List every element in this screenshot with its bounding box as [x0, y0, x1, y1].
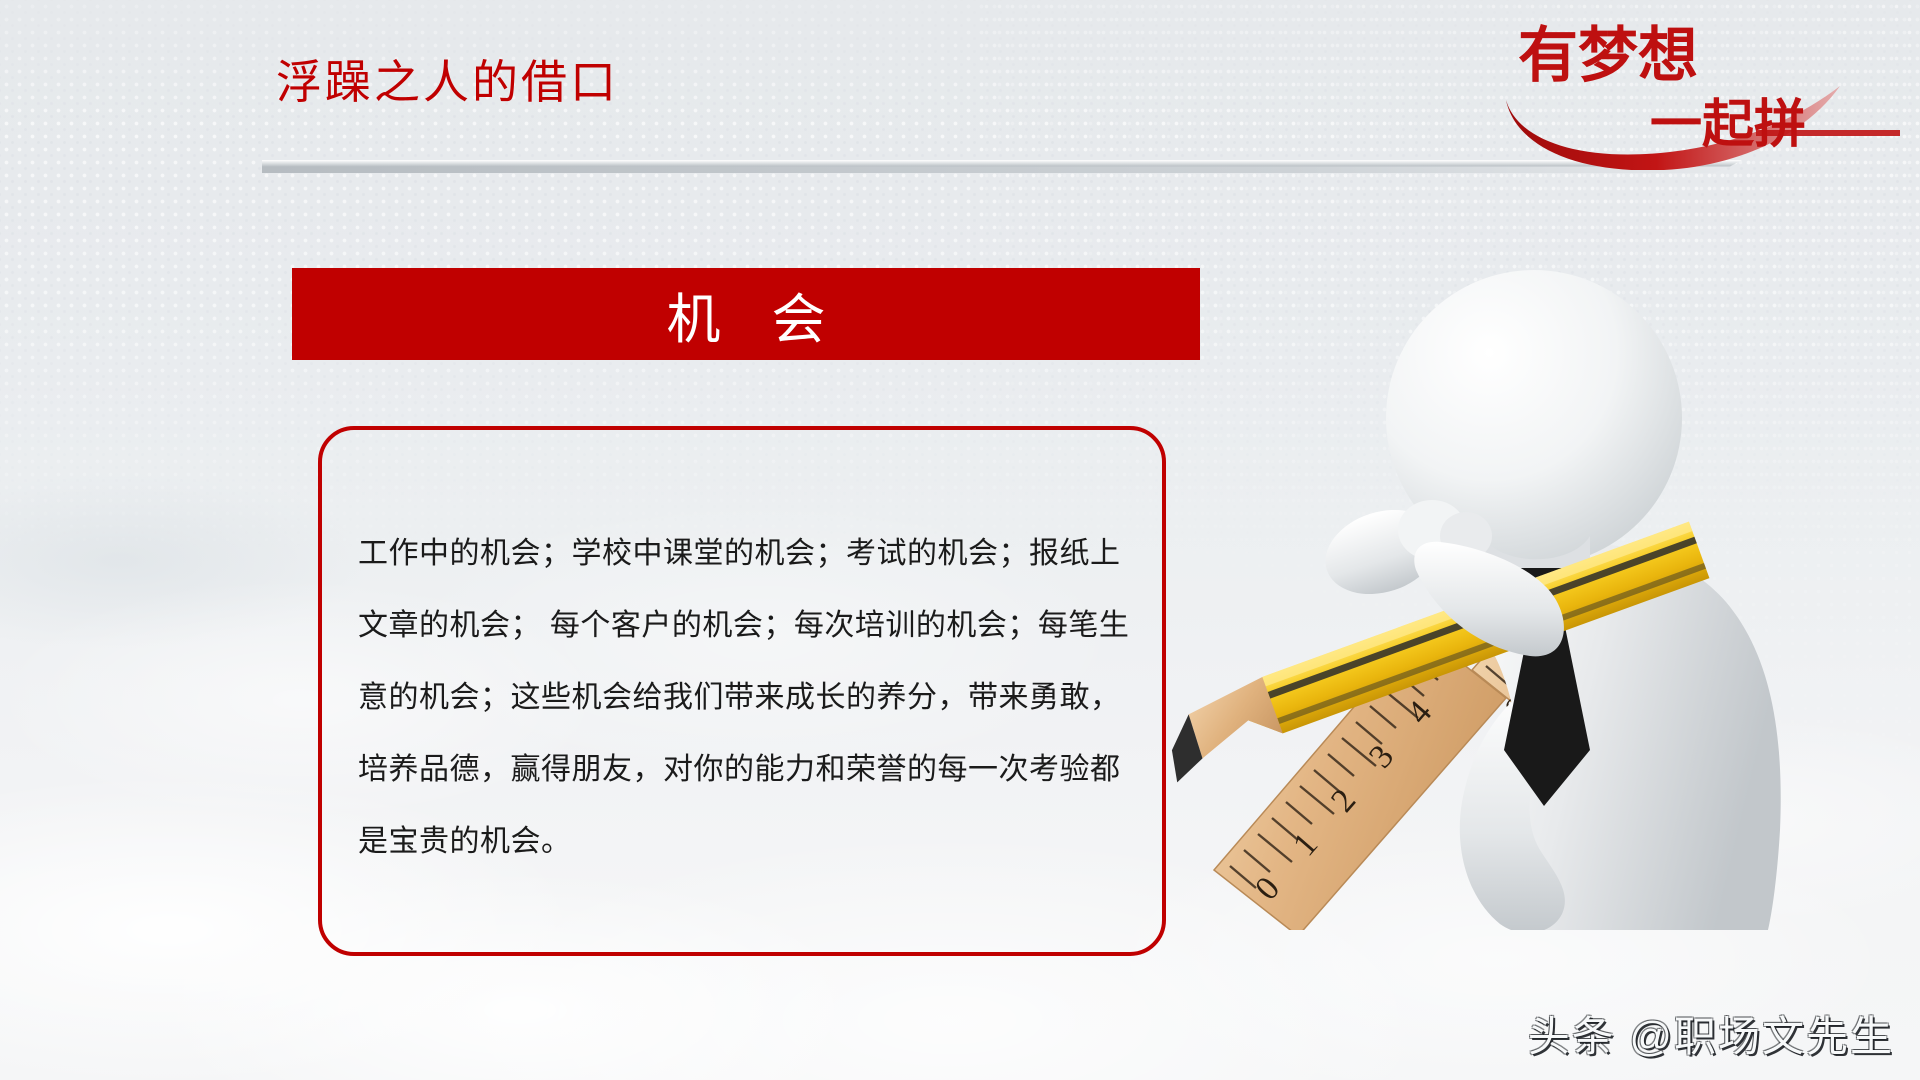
- section-banner: 机 会: [292, 268, 1200, 360]
- watermark-text: 头条 @职场文先生: [1528, 1003, 1894, 1064]
- content-paragraph: 工作中的机会；学校中课堂的机会；考试的机会；报纸上文章的机会； 每个客户的机会；…: [358, 518, 1148, 878]
- brand-logo-line2: 一起拼: [1650, 96, 1806, 154]
- section-banner-label: 机 会: [648, 275, 843, 354]
- page-title: 浮躁之人的借口: [276, 46, 619, 112]
- 3d-figure-illustration: 0 1 2 3 4 8 9 10: [1120, 230, 1920, 930]
- slide-canvas: 浮躁之人的借口: [0, 0, 1920, 1080]
- brand-logo-line1: 有梦想: [1518, 23, 1698, 89]
- brand-logo: 有梦想 一起拼: [1488, 2, 1908, 170]
